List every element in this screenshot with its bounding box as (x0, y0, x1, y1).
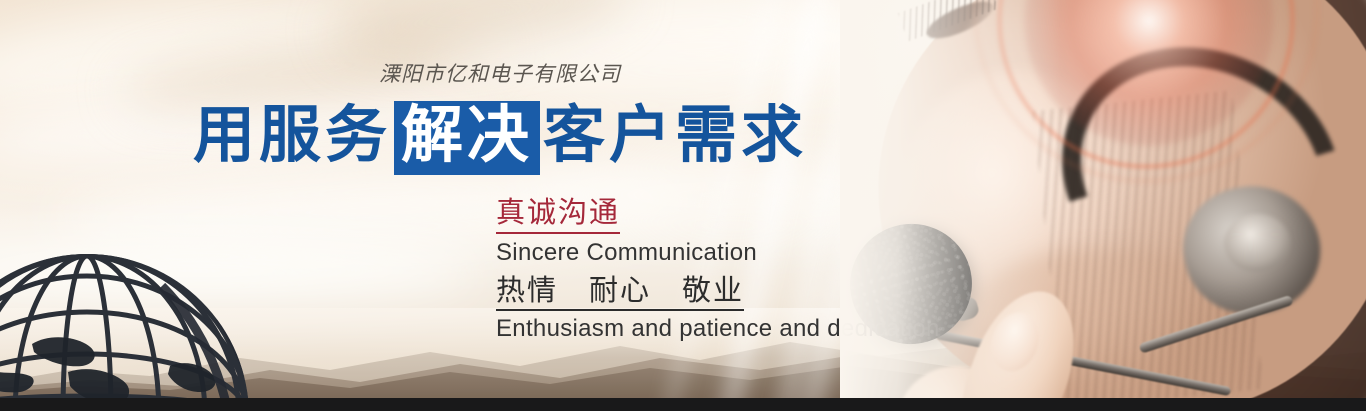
slogan-block: 真诚沟通 Sincere Communication 热情 耐心 敬业 Enth… (496, 197, 940, 343)
slogan-cn-primary: 真诚沟通 (496, 197, 620, 234)
slogan-row: 热情 耐心 敬业 (496, 267, 940, 312)
headline-lead: 用服务 (193, 101, 391, 170)
hero-banner: 溧阳市亿和电子有限公司 用服务解决客户需求 真诚沟通 Sincere Commu… (0, 0, 1366, 411)
bottom-bar (0, 398, 1366, 411)
slogan-en-secondary: Enthusiasm and patience and dedication (496, 316, 940, 343)
slogan-row: 真诚沟通 (496, 197, 940, 234)
headline-highlight: 解决 (394, 101, 540, 175)
headset-earpiece-detail (1224, 214, 1290, 272)
slogan-en-primary: Sincere Communication (496, 240, 940, 267)
slogan-cn-secondary: 热情 耐心 敬业 (496, 275, 744, 312)
headline-trail: 客户需求 (543, 101, 807, 170)
